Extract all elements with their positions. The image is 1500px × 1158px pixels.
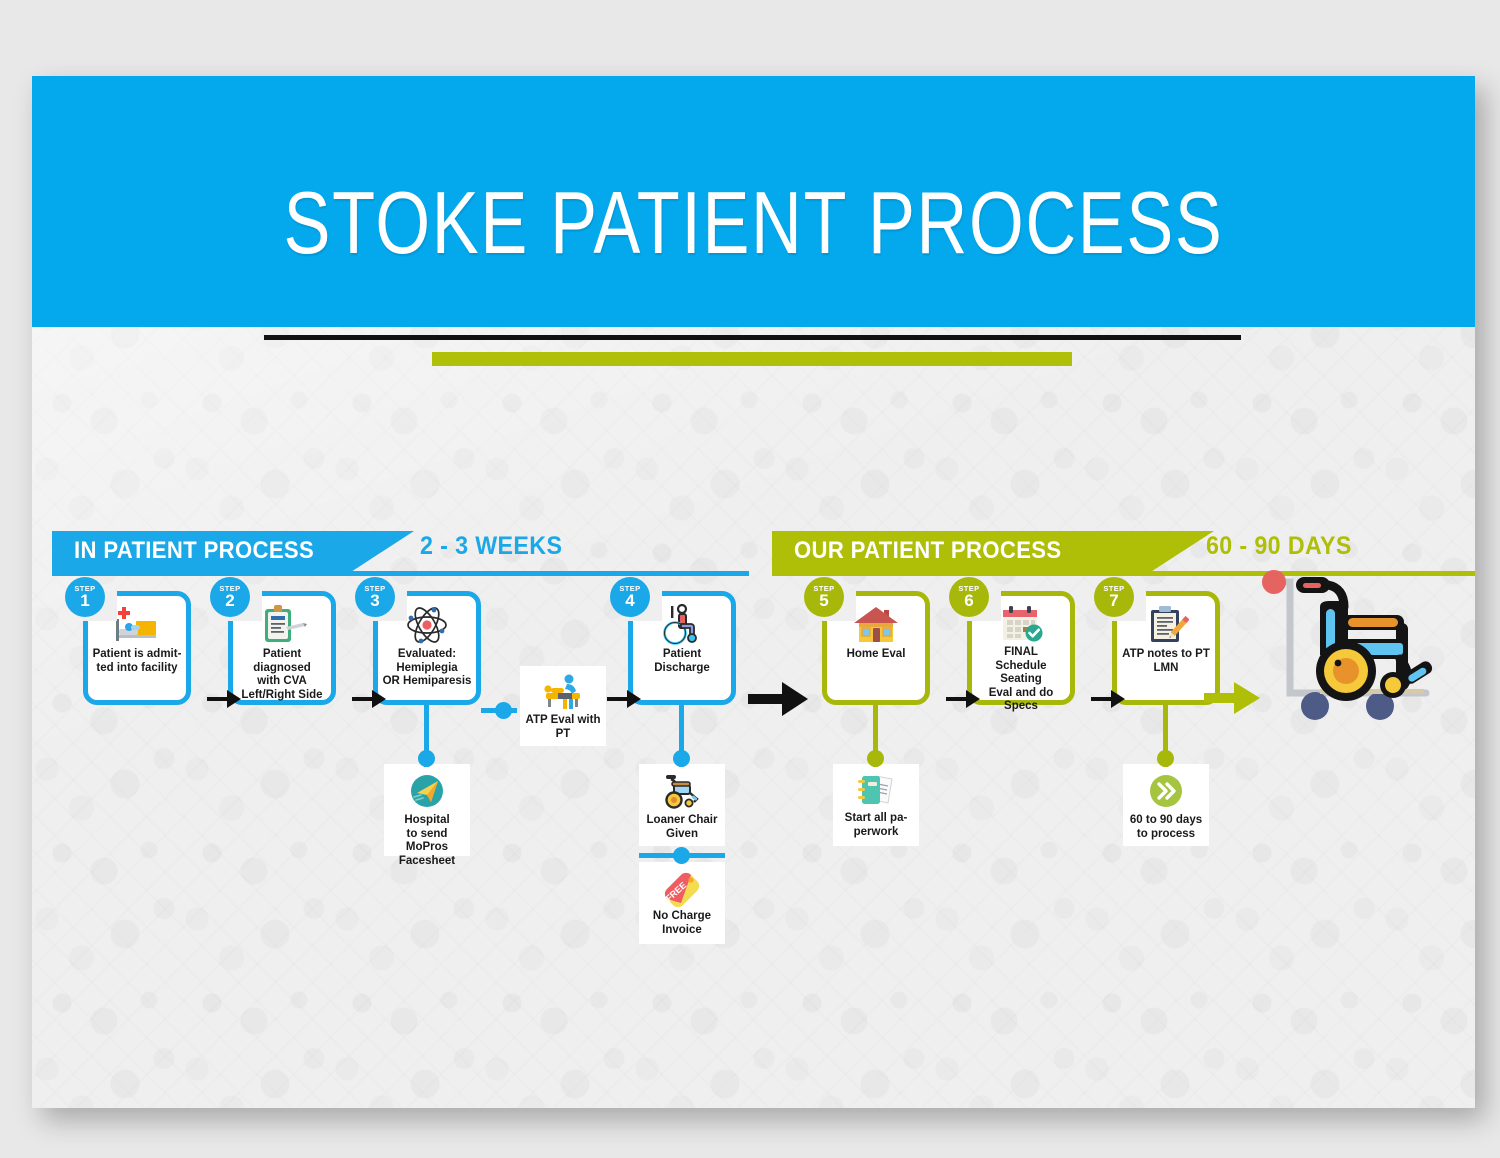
connector-dot-step5-bottom [867,750,884,767]
wheelchair-person-icon [659,604,705,646]
step-badge-3: STEP 3 [355,577,395,617]
clipboard-pen-icon [256,604,308,646]
substep-card-loaner-chair[interactable]: Loaner ChairGiven [639,764,725,846]
step-badge-4: STEP 4 [610,577,650,617]
substep-card-no-charge-invoice[interactable]: FREE No ChargeInvoice [639,862,725,944]
substep-card-days-to-process[interactable]: 60 to 90 daysto process [1123,764,1209,846]
arrow-to-outcome [1204,680,1262,721]
step-label-4: PatientDischarge [651,648,713,675]
step-label-3: Evaluated:HemiplegiaOR Hemiparesis [380,648,475,689]
substep-label-hospital-facesheet: Hospitalto send MoProsFacesheet [387,814,467,868]
paper-plane-icon [407,771,447,811]
step-badge-1: STEP 1 [65,577,105,617]
hospital-bed-icon [112,604,162,646]
arrow-step2-step3 [352,688,388,715]
connector-dot-step4-bottom [673,750,690,767]
massage-therapy-icon [538,673,588,711]
wheelchair-icon [658,771,706,811]
clipboard-pencil-icon [1143,604,1189,646]
power-wheelchair-icon [1250,563,1460,728]
arrow-step5-step6 [946,688,982,715]
arrow-step1-step2 [207,688,243,715]
substep-card-hospital-facesheet[interactable]: Hospitalto send MoProsFacesheet [384,764,470,856]
free-tag-icon: FREE [661,869,703,907]
substep-card-atp-eval-pt[interactable]: ATP Eval withPT [520,666,606,746]
connector-dot-step3-bottom [418,750,435,767]
arrow-step6-step7 [1091,688,1127,715]
substep-label-loaner-chair: Loaner ChairGiven [647,814,718,841]
connector-dot-loaner-invoice [673,847,690,864]
process-flow: Patient is admit-ted into facility STEP … [32,76,1475,1108]
step-badge-7: STEP 7 [1094,577,1134,617]
substep-card-start-paperwork[interactable]: Start all pa-perwork [833,764,919,846]
substep-label-no-charge-invoice: No ChargeInvoice [653,910,711,937]
step-label-1: Patient is admit-ted into facility [90,648,185,675]
connector-dot-step7-bottom [1157,750,1174,767]
step-label-7: ATP notes to PTLMN [1119,648,1213,675]
step-badge-5: STEP 5 [804,577,844,617]
double-chevron-icon [1146,771,1186,811]
screenshot-root: STOKE PATIENT PROCESS IN PATIENT PROCESS… [0,0,1500,1158]
house-icon [851,604,901,646]
step-badge-6: STEP 6 [949,577,989,617]
atom-icon [404,604,450,646]
substep-label-days-to-process: 60 to 90 daysto process [1130,814,1202,841]
step-label-2: Patient diagnosedwith CVALeft/Right Side [233,648,331,702]
arrow-section-transition [748,680,810,723]
substep-label-start-paperwork: Start all pa-perwork [845,812,908,839]
step-label-6: FINALSchedule SeatingEval and do Specs [972,646,1070,714]
step-label-5: Home Eval [844,648,909,662]
presentation-slide: STOKE PATIENT PROCESS IN PATIENT PROCESS… [32,76,1475,1108]
connector-dot-step3-right [495,702,512,719]
arrow-step3-step4 [607,688,643,715]
notebook-papers-icon [854,771,898,809]
calendar-check-icon [997,604,1045,644]
substep-label-atp-eval-pt: ATP Eval withPT [526,714,601,741]
step-badge-2: STEP 2 [210,577,250,617]
